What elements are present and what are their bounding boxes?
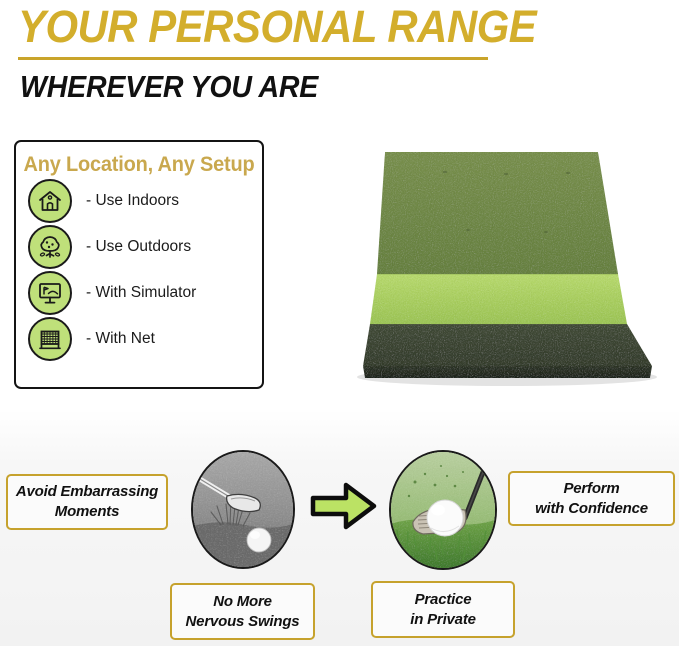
callout-avoid-embarrassing-moments: Avoid Embarrassing Moments: [6, 474, 168, 530]
feature-panel: Any Location, Any Setup - Use Indoors: [14, 140, 264, 389]
feature-item-label: - Use Outdoors: [86, 238, 191, 256]
callout-line-2: Nervous Swings: [186, 613, 300, 630]
callout-line-1: No More: [213, 593, 272, 610]
simulator-icon: [28, 271, 72, 315]
callout-practice-in-private: Practice in Private: [371, 581, 515, 638]
before-photo-oval: [191, 450, 295, 569]
title-underline-rule: [18, 57, 488, 60]
callout-line-1: Avoid Embarrassing: [16, 483, 158, 500]
tree-icon: [28, 225, 72, 269]
callout-line-2: Moments: [55, 503, 119, 520]
page-subtitle: WHEREVER YOU ARE: [20, 68, 318, 106]
page-title: YOUR PERSONAL RANGE: [18, 2, 536, 52]
callout-line-1: Perform: [563, 480, 619, 497]
feature-item-use-indoors: - Use Indoors: [28, 178, 262, 224]
feature-panel-heading: Any Location, Any Setup: [22, 152, 256, 178]
after-photo-oval: [389, 450, 497, 570]
product-photo-golf-mat: [300, 134, 679, 396]
house-icon: [28, 179, 72, 223]
feature-item-with-net: - With Net: [28, 316, 262, 362]
headline-block: YOUR PERSONAL RANGE WHEREVER YOU ARE: [0, 0, 679, 118]
feature-item-use-outdoors: - Use Outdoors: [28, 224, 262, 270]
callout-line-1: Practice: [415, 591, 472, 608]
callout-line-2: with Confidence: [535, 500, 648, 517]
callout-perform-with-confidence: Perform with Confidence: [508, 471, 675, 526]
net-icon: [28, 317, 72, 361]
green-right-arrow-icon: [310, 478, 378, 534]
feature-item-label: - With Simulator: [86, 284, 196, 302]
feature-item-label: - Use Indoors: [86, 192, 179, 210]
feature-item-label: - With Net: [86, 330, 155, 348]
feature-item-with-simulator: - With Simulator: [28, 270, 262, 316]
callout-line-2: in Private: [410, 611, 476, 628]
callout-no-more-nervous-swings: No More Nervous Swings: [170, 583, 315, 640]
